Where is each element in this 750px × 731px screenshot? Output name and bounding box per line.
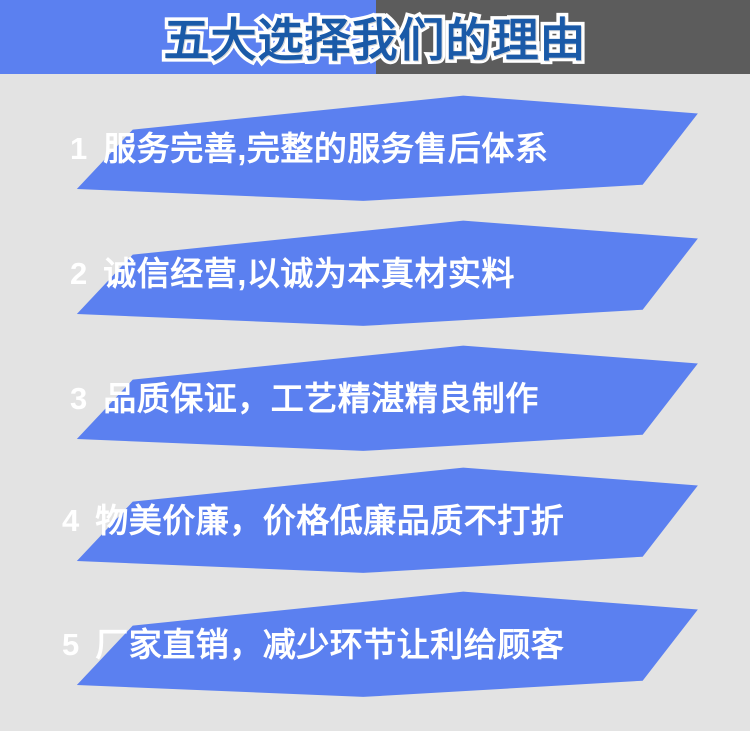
reason-label-5: 厂家直销，减少环节让利给顾客 (95, 628, 564, 661)
reason-content-3: 3 品质保证，工艺精湛精良制作 (32, 344, 722, 452)
reason-index-3: 3 (70, 383, 87, 414)
reason-index-4: 4 (62, 505, 79, 536)
reason-label-1: 服务完善,完整的服务售后体系 (103, 132, 548, 165)
reason-index-5: 5 (62, 629, 79, 660)
reason-label-2: 诚信经营,以诚为本真材实料 (103, 257, 515, 290)
reason-row-1: 1 服务完善,完整的服务售后体系 (0, 94, 750, 219)
reason-index-2: 2 (70, 258, 87, 289)
reason-row-4: 4 物美价廉，价格低廉品质不打折 (0, 466, 750, 591)
reason-content-1: 1 服务完善,完整的服务售后体系 (32, 94, 722, 202)
reason-list: 1 服务完善,完整的服务售后体系 2 诚信经营,以诚为本真材实料 3 品质保证，… (0, 74, 750, 731)
reason-row-3: 3 品质保证，工艺精湛精良制作 (0, 344, 750, 469)
reason-index-1: 1 (70, 133, 87, 164)
reason-row-2: 2 诚信经营,以诚为本真材实料 (0, 219, 750, 344)
reason-row-5: 5 厂家直销，减少环节让利给顾客 (0, 590, 750, 715)
reason-content-4: 4 物美价廉，价格低廉品质不打折 (32, 466, 722, 574)
page-title: 五大选择我们的理由 (0, 0, 750, 74)
reason-content-5: 5 厂家直销，减少环节让利给顾客 (32, 590, 722, 698)
reason-label-4: 物美价廉，价格低廉品质不打折 (95, 504, 564, 537)
reason-content-2: 2 诚信经营,以诚为本真材实料 (32, 219, 722, 327)
promo-banner-page: 五大选择我们的理由 1 服务完善,完整的服务售后体系 2 诚信经营,以诚为本真材… (0, 0, 750, 731)
reason-label-3: 品质保证，工艺精湛精良制作 (103, 382, 539, 415)
